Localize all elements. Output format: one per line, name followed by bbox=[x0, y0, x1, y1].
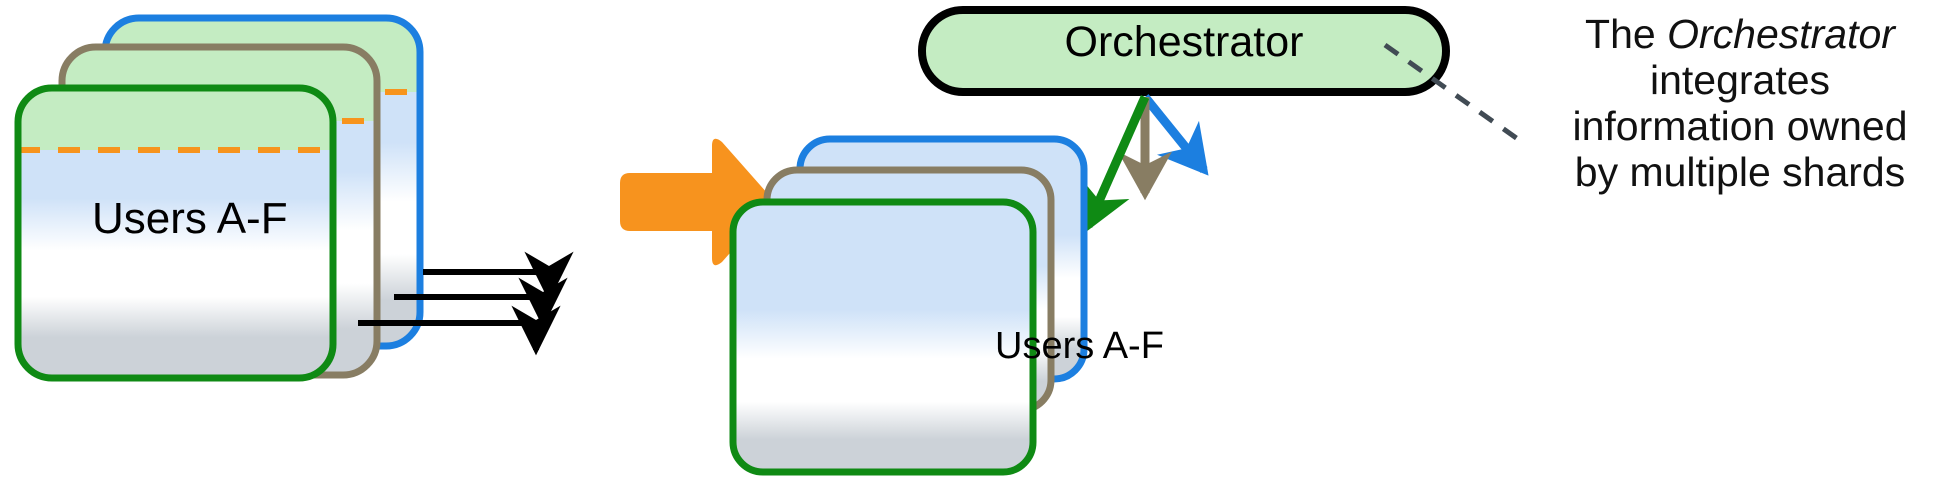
orchestrator-arrows bbox=[1088, 97, 1204, 226]
annotation-line-2: integrates bbox=[1650, 57, 1830, 103]
left-card-green[interactable] bbox=[18, 88, 333, 378]
orchestrator-arrow-green bbox=[1088, 97, 1145, 226]
annotation-line-1-emphasis: Orchestrator bbox=[1667, 11, 1895, 57]
orchestrator-node[interactable] bbox=[922, 10, 1446, 92]
orchestrator-arrow-blue bbox=[1145, 97, 1204, 170]
loop-arrow-1 bbox=[423, 272, 549, 296]
annotation-line-1-prefix: The bbox=[1585, 11, 1667, 57]
annotation-line-4: by multiple shards bbox=[1575, 149, 1905, 195]
diagram-canvas: Orchestrator Users A-F Users A-F The Orc… bbox=[0, 0, 1959, 489]
annotation-line-3: information owned bbox=[1572, 103, 1907, 149]
orchestrator-annotation: The Orchestrator integrates information … bbox=[1528, 12, 1952, 196]
right-card-green[interactable] bbox=[733, 202, 1033, 472]
